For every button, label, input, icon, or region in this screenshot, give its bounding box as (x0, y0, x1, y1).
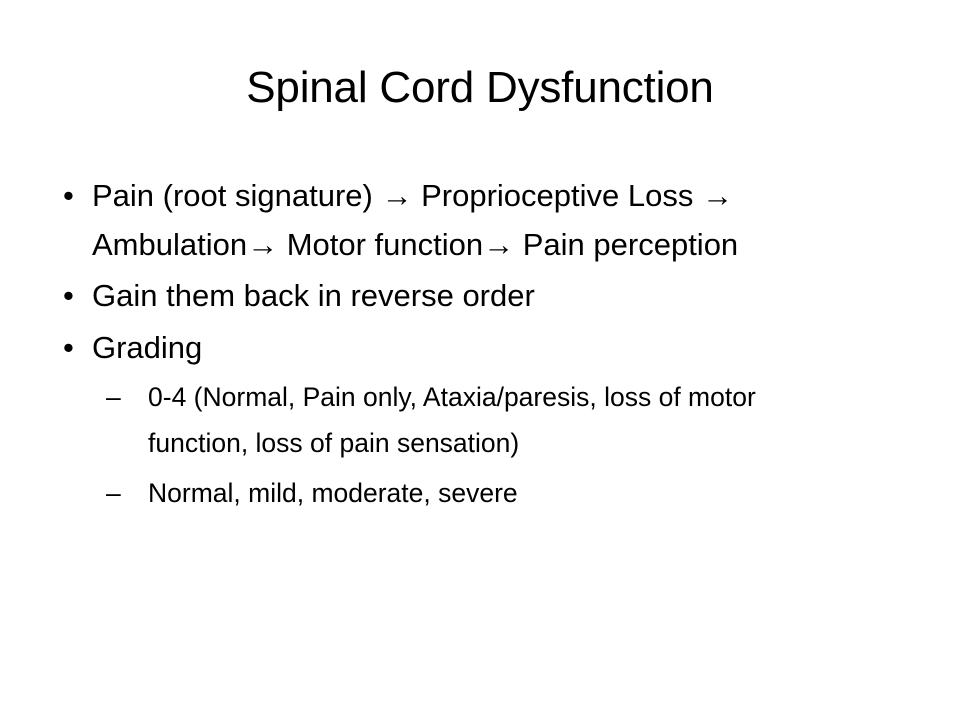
list-item-label: Pain (root signature) → Proprioceptive L… (92, 172, 908, 269)
bullet-dash-icon: – (106, 374, 132, 420)
bullet-list-level2: – 0-4 (Normal, Pain only, Ataxia/paresis… (92, 374, 908, 516)
list-item-label: 0-4 (Normal, Pain only, Ataxia/paresis, … (148, 374, 828, 466)
bullet-dash-icon: – (106, 470, 132, 516)
bullet-dot-icon: • (63, 324, 83, 373)
list-item: • Pain (root signature) → Proprioceptive… (56, 172, 908, 269)
list-item: – Normal, mild, moderate, severe (106, 470, 908, 516)
list-item: – 0-4 (Normal, Pain only, Ataxia/paresis… (106, 374, 908, 466)
list-item-label: Normal, mild, moderate, severe (148, 470, 908, 516)
bullet-list-level1: • Pain (root signature) → Proprioceptive… (56, 172, 908, 516)
slide-body: • Pain (root signature) → Proprioceptive… (56, 172, 908, 520)
bullet-dot-icon: • (63, 172, 83, 221)
list-item-label: Gain them back in reverse order (92, 272, 908, 321)
bullet-dot-icon: • (63, 272, 83, 321)
list-item: • Grading – 0-4 (Normal, Pain only, Atax… (56, 324, 908, 517)
list-item: • Gain them back in reverse order (56, 272, 908, 321)
page-title: Spinal Cord Dysfunction (0, 62, 960, 114)
list-item-label: Grading (92, 324, 908, 373)
slide: Spinal Cord Dysfunction • Pain (root sig… (0, 0, 960, 720)
